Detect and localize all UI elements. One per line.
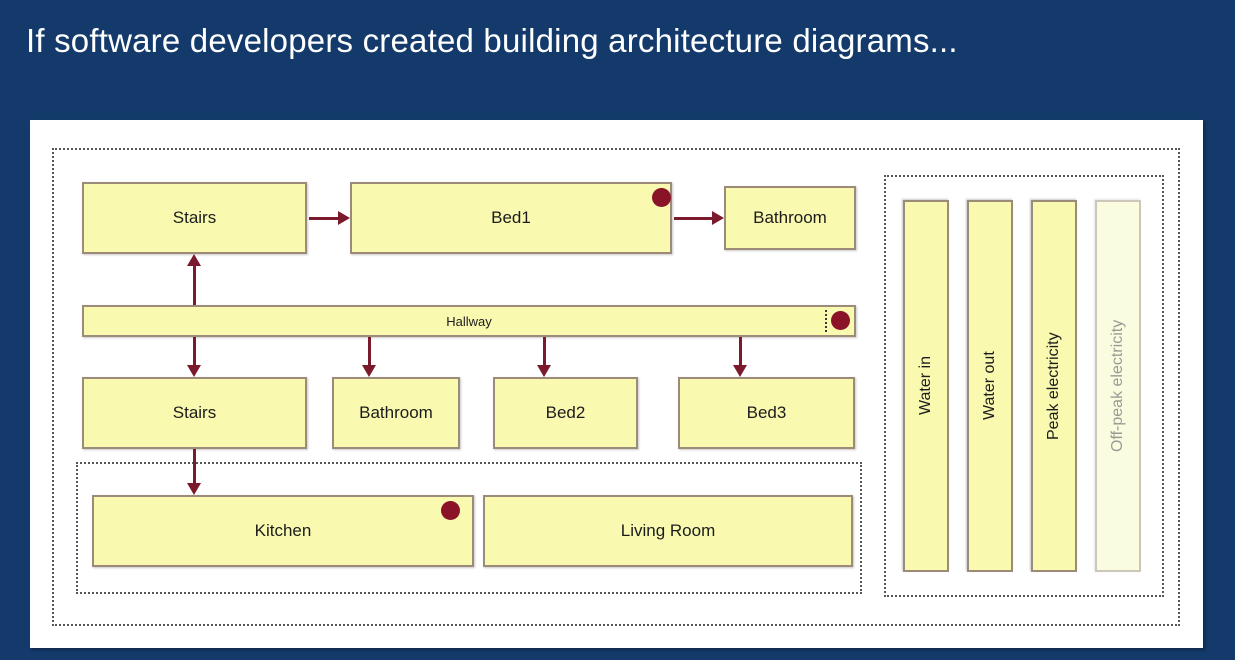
arrow-hallway-to-stairs-lower — [186, 337, 202, 377]
room-box-bed1[interactable]: Bed1 — [350, 182, 672, 254]
arrow-bed1-to-bathroom — [674, 210, 724, 226]
arrow-hallway-to-bathroom-lower — [361, 337, 377, 377]
utility-column-water-out[interactable]: Water out — [967, 200, 1013, 572]
status-dot-bed1 — [652, 188, 671, 207]
arrow-stairs-to-bed1 — [309, 210, 350, 226]
status-dot-hallway — [831, 311, 850, 330]
room-box-stairs-lower[interactable]: Stairs — [82, 377, 307, 449]
room-box-bathroom-upper[interactable]: Bathroom — [724, 186, 856, 250]
arrow-hallway-to-bed2 — [536, 337, 552, 377]
room-box-living-room[interactable]: Living Room — [483, 495, 853, 567]
room-box-bathroom-lower[interactable]: Bathroom — [332, 377, 460, 449]
status-dot-kitchen — [441, 501, 460, 520]
arrow-hallway-to-bed3 — [732, 337, 748, 377]
room-box-stairs-upper[interactable]: Stairs — [82, 182, 307, 254]
room-box-bed2[interactable]: Bed2 — [493, 377, 638, 449]
hallway-divider — [825, 310, 827, 332]
utility-column-off-peak-electricity[interactable]: Off-peak electricity — [1095, 200, 1141, 572]
room-box-bed3[interactable]: Bed3 — [678, 377, 855, 449]
page-title: If software developers created building … — [26, 22, 958, 60]
room-box-kitchen[interactable]: Kitchen — [92, 495, 474, 567]
arrow-stairs-lower-to-kitchen — [186, 449, 202, 495]
arrow-hallway-to-stairs-upper — [186, 254, 202, 305]
utility-column-water-in[interactable]: Water in — [903, 200, 949, 572]
utility-column-peak-electricity[interactable]: Peak electricity — [1031, 200, 1077, 572]
diagram-panel: Stairs Bed1 Bathroom Hallway Stairs Bat — [30, 120, 1203, 648]
room-box-hallway[interactable]: Hallway — [82, 305, 856, 337]
